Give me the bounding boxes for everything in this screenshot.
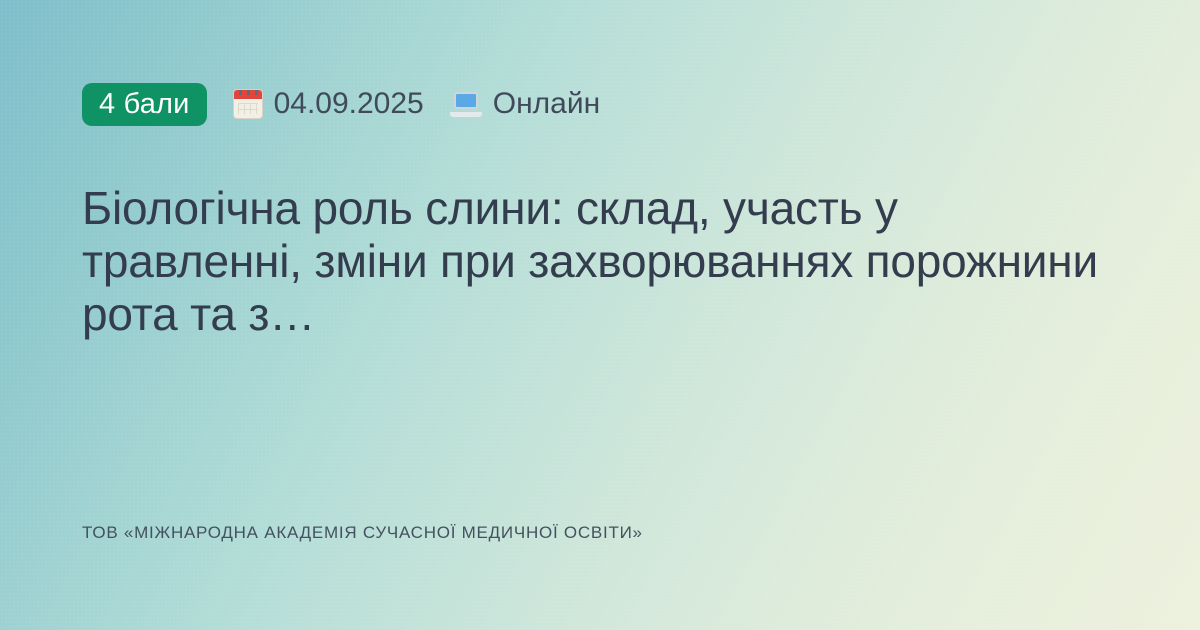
calendar-rings-icon [237,89,259,95]
score-badge: 4 бали [82,83,207,126]
calendar-icon [233,89,263,119]
laptop-screen-icon [454,92,478,109]
event-preview-card: 4 бали 04.09.2025 Онлайн Біологічна роль… [0,0,1200,630]
meta-row: 4 бали 04.09.2025 Онлайн [82,82,1120,126]
event-date-value: 04.09.2025 [274,89,424,119]
event-date: 04.09.2025 [233,89,424,119]
layout-spacer [82,341,1120,522]
laptop-base-icon [450,112,482,117]
event-format-value: Онлайн [493,89,600,119]
organization-name: ТОВ «МІЖНАРОДНА АКАДЕМІЯ СУЧАСНОЇ МЕДИЧН… [82,522,1120,544]
page-title: Біологічна роль слини: склад, участь у т… [82,182,1120,341]
footer: ТОВ «МІЖНАРОДНА АКАДЕМІЯ СУЧАСНОЇ МЕДИЧН… [82,522,1120,544]
title-wrap: Біологічна роль слини: склад, участь у т… [82,182,1120,341]
card-content: 4 бали 04.09.2025 Онлайн Біологічна роль… [0,0,1200,630]
event-format: Онлайн [450,89,600,119]
laptop-icon [450,92,482,117]
